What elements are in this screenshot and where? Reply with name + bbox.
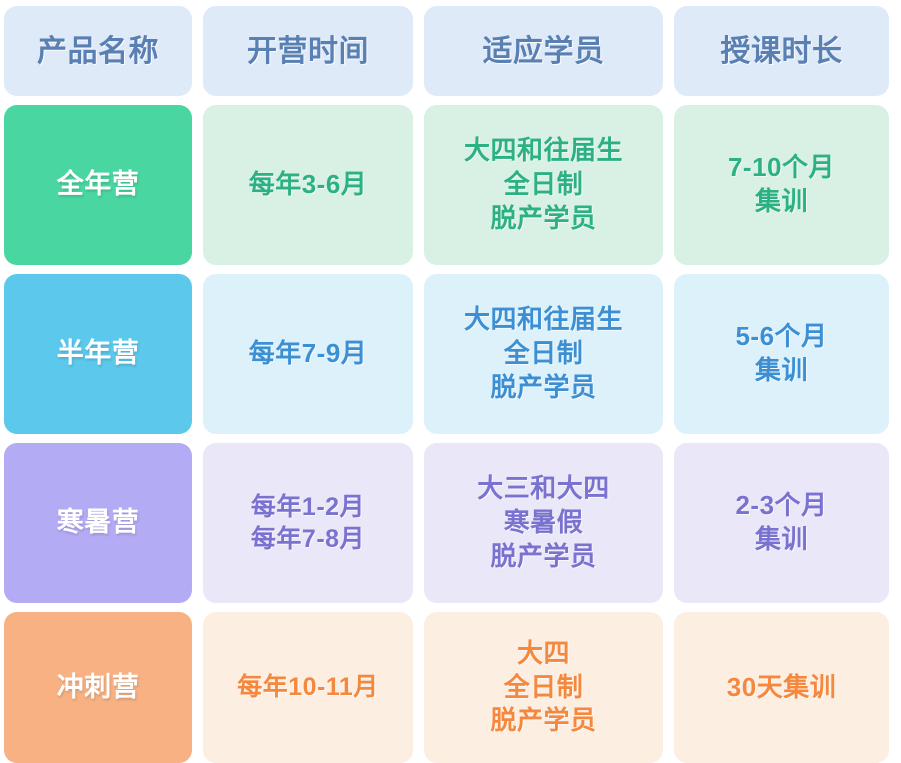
row-start-label: 每年7-9月: [249, 337, 368, 371]
column-header-duration-label: 授课时长: [721, 32, 843, 71]
column-header-start: 开营时间: [203, 6, 413, 96]
row-audience-cell: 大四和往届生 全日制 脱产学员: [424, 105, 663, 265]
row-start-cell: 每年10-11月: [203, 612, 413, 763]
row-audience-label: 大四和往届生 全日制 脱产学员: [464, 134, 623, 235]
row-audience-cell: 大四和往届生 全日制 脱产学员: [424, 274, 663, 434]
row-name-label: 全年营: [57, 167, 140, 202]
row-duration-cell: 5-6个月 集训: [674, 274, 889, 434]
column-header-name: 产品名称: [4, 6, 192, 96]
column-header-audience-label: 适应学员: [483, 32, 605, 71]
row-duration-label: 7-10个月 集训: [728, 151, 835, 219]
row-audience-label: 大四 全日制 脱产学员: [490, 637, 596, 738]
column-header-duration: 授课时长: [674, 6, 889, 96]
row-duration-label: 2-3个月 集训: [735, 489, 827, 557]
row-start-cell: 每年3-6月: [203, 105, 413, 265]
row-name-label: 寒暑营: [57, 505, 140, 540]
row-name-cell: 寒暑营: [4, 443, 192, 603]
row-start-cell: 每年7-9月: [203, 274, 413, 434]
column-header-name-label: 产品名称: [37, 32, 159, 71]
row-start-cell: 每年1-2月 每年7-8月: [203, 443, 413, 603]
row-name-cell: 全年营: [4, 105, 192, 265]
row-audience-cell: 大四 全日制 脱产学员: [424, 612, 663, 763]
row-start-label: 每年10-11月: [237, 671, 379, 704]
column-header-start-label: 开营时间: [247, 32, 369, 71]
row-duration-cell: 7-10个月 集训: [674, 105, 889, 265]
row-name-label: 冲刺营: [57, 670, 140, 705]
row-duration-cell: 30天集训: [674, 612, 889, 763]
row-name-label: 半年营: [57, 336, 140, 371]
comparison-table: 产品名称 开营时间 适应学员 授课时长 全年营 每年3-6月 大四和往届生 全日…: [0, 0, 901, 760]
row-start-label: 每年1-2月 每年7-8月: [251, 491, 365, 556]
row-audience-cell: 大三和大四 寒暑假 脱产学员: [424, 443, 663, 603]
row-audience-label: 大三和大四 寒暑假 脱产学员: [477, 472, 610, 573]
row-name-cell: 冲刺营: [4, 612, 192, 763]
row-start-label: 每年3-6月: [249, 168, 368, 202]
row-duration-cell: 2-3个月 集训: [674, 443, 889, 603]
column-header-audience: 适应学员: [424, 6, 663, 96]
row-duration-label: 30天集训: [727, 671, 836, 705]
row-audience-label: 大四和往届生 全日制 脱产学员: [464, 303, 623, 404]
row-duration-label: 5-6个月 集训: [735, 320, 827, 388]
row-name-cell: 半年营: [4, 274, 192, 434]
